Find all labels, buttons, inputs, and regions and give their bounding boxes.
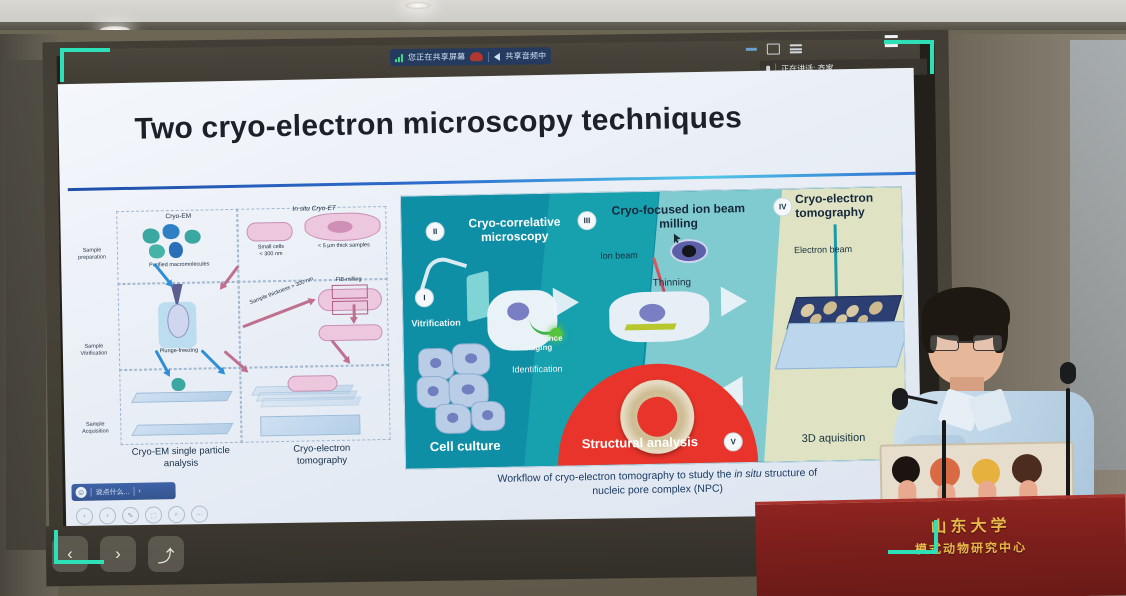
label-structural-analysis: Structural analysis [582, 435, 699, 452]
caption-italic-in-situ: in situ [734, 468, 762, 481]
grid-droplet [167, 304, 190, 338]
macromolecule-blob [143, 228, 160, 243]
meeting-chat-input-bar[interactable]: ☺ 说点什么... ‹ [71, 482, 175, 501]
screen-corner-marker-top-right [884, 40, 934, 74]
window-controls [746, 43, 802, 55]
screen-corner-marker-bottom-left [54, 530, 104, 564]
microscope-body [467, 270, 490, 322]
audio-status-label: 共享音频中 [505, 50, 546, 62]
lamella-on-grid [287, 375, 337, 392]
lectern-podium: 山东大学 模式动物研究中心 [755, 494, 1126, 596]
emoji-icon[interactable]: ☺ [75, 487, 86, 498]
fib-mill-region [332, 300, 368, 315]
label-thinning: Thinning [653, 277, 692, 289]
left-wall-panel [6, 60, 46, 550]
macromolecule-blob [169, 242, 183, 258]
powerpoint-presenter-controls: ‹ › ✎ ⬚ ⌕ ⋯ [76, 505, 208, 525]
slide-prev-button[interactable]: ‹ [76, 508, 93, 525]
caption-cryo-electron-tomography: Cryo-electron tomography [259, 442, 385, 468]
stage-label-sample-acquisition: Sample Acquisition [72, 421, 118, 437]
presentation-slide: Two cryo-electron microscopy techniques … [58, 68, 923, 536]
lamella-region [624, 323, 676, 330]
macromolecule-blob [149, 244, 165, 258]
sample-grid-plate [131, 391, 233, 403]
label-small-cells: Small cells < 300 nm [241, 244, 301, 259]
more-options-icon[interactable]: ⋯ [191, 505, 208, 522]
zoom-icon[interactable]: ⌕ [168, 506, 185, 523]
slide-thumbnails-icon[interactable]: ⬚ [145, 506, 162, 523]
particle-on-grid [171, 378, 185, 391]
tomogram-stack [260, 415, 360, 437]
label-thick-samples: < 5 µm thick samples [305, 242, 383, 251]
fib-mill-region [332, 284, 368, 299]
label-3d-acquisition: 3D aquisition [802, 432, 866, 445]
workflow-arrow-3-to-4 [721, 286, 748, 316]
ceiling-light-secondary [405, 2, 431, 9]
screen-corner-marker-top-left [60, 48, 110, 82]
arrow-down [353, 304, 356, 320]
stage-label-sample-preparation: Sample preparation [69, 247, 115, 263]
label-cell-culture: Cell culture [430, 439, 501, 455]
maximize-icon[interactable] [767, 43, 780, 54]
recording-icon[interactable] [470, 52, 483, 61]
cell-culture-cluster [416, 343, 514, 437]
label-electron-beam: Electron beam [794, 244, 852, 255]
label-fib-milling: FIB-milling [321, 276, 375, 284]
screen-corner-marker-bottom-right [888, 520, 938, 554]
glasses-lens-left [930, 335, 959, 351]
column-header-cryoem: Cryo-EM [140, 212, 216, 220]
right-figure-cryoet-workflow: I Vitrification Cell culture II Cryo-cor… [400, 186, 907, 470]
stage-label-sample-vitrification: Sample Vitrification [71, 343, 117, 359]
divider [488, 52, 489, 62]
minimize-icon[interactable] [746, 48, 757, 51]
divider [90, 488, 91, 497]
label-fluorescence-imaging: Fluorescence imaging [500, 333, 574, 352]
label-identification: Identification [500, 363, 574, 374]
presentation-room-scene: 您正在共享屏幕 共享音频中 正在讲话: 齐家 Two cryo-electron… [0, 0, 1126, 596]
microphone-head [892, 388, 908, 410]
share-status-label: 您正在共享屏幕 [408, 51, 466, 63]
figure-caption: Workflow of cryo-electron tomography to … [423, 464, 891, 501]
label-ion-beam: Ion beam [600, 250, 638, 261]
divider [133, 487, 134, 496]
slide-title: Two cryo-electron microscopy techniques [134, 101, 742, 147]
nav-next-button[interactable]: › [100, 536, 136, 572]
caption-part-2: structure of [762, 467, 818, 480]
macromolecule-blob [185, 230, 201, 244]
presenter-glasses [930, 335, 1002, 350]
slide-next-button[interactable]: › [99, 507, 116, 524]
label-cryo-electron-tomography: Cryo-electron tomography [795, 191, 900, 221]
microphone-head-secondary [1060, 362, 1076, 384]
label-cryo-fib-milling: Cryo-focused ion beam milling [599, 202, 758, 233]
chat-collapse-icon[interactable]: ‹ [138, 488, 140, 495]
left-figure-cryoem-workflow: Sample preparation Sample Vitrification … [68, 198, 403, 472]
label-vitrification: Vitrification [411, 318, 461, 329]
glasses-lens-right [973, 335, 1002, 351]
lamella-shape [318, 324, 382, 341]
label-cryo-correlative-microscopy: Cryo-correlative microscopy [449, 215, 580, 245]
caption-line-2: nucleic pore complex (NPC) [592, 483, 723, 498]
workflow-arrow-2-to-3 [553, 287, 580, 317]
tomogram-volume [775, 321, 907, 370]
menu-icon[interactable] [790, 44, 802, 53]
detector-plate [131, 423, 233, 436]
caption-cryoem-single-particle: Cryo-EM single particle analysis [113, 445, 249, 471]
nav-share-button[interactable]: ⤴ [148, 536, 184, 572]
screen-share-status-pill[interactable]: 您正在共享屏幕 共享音频中 [390, 47, 552, 66]
speaker-icon [494, 52, 500, 60]
pen-tool-icon[interactable]: ✎ [122, 507, 139, 524]
chat-input-placeholder[interactable]: 说点什么... [95, 486, 129, 497]
macromolecule-blob [162, 224, 179, 239]
signal-icon [395, 54, 403, 62]
small-cell-shape [246, 222, 292, 242]
